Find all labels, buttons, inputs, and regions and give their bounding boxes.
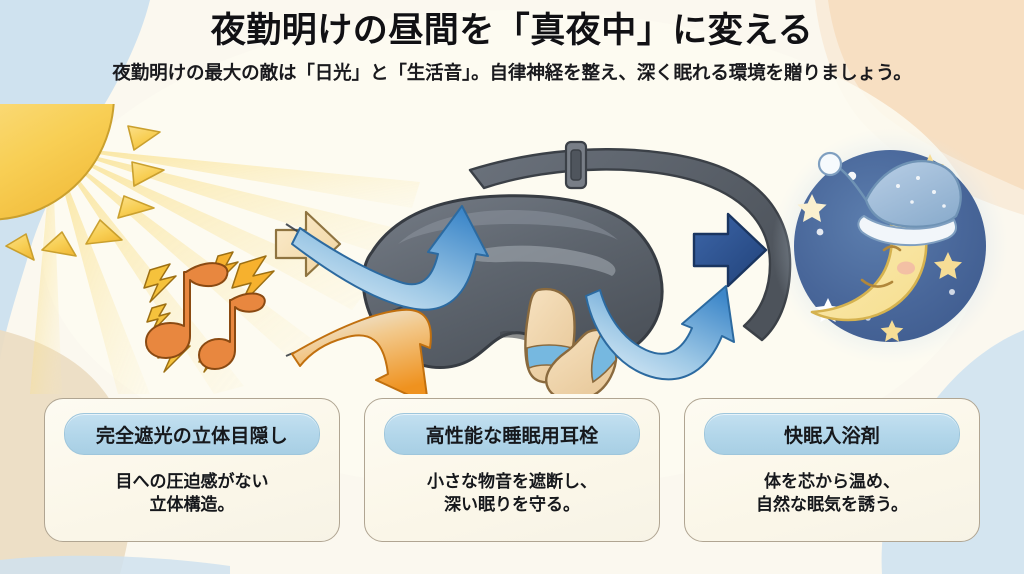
- music-note: [199, 293, 265, 369]
- navy-right-arrow-icon: [694, 214, 766, 286]
- sleeping-crescent-moon-icon: [772, 128, 1008, 364]
- card-description: 小さな物音を遮断し、 深い眠りを守る。: [427, 471, 597, 516]
- feature-card-list: 完全遮光の立体目隠し 目への圧迫感がない 立体構造。 高性能な睡眠用耳栓 小さな…: [44, 398, 980, 544]
- card-badge: 快眠入浴剤: [704, 413, 960, 455]
- infographic-canvas: 夜勤明けの昼間を「真夜中」に変える 夜勤明けの最大の敵は「日光」と「生活音」。自…: [0, 0, 1024, 574]
- feature-card-earplugs[interactable]: 高性能な睡眠用耳栓 小さな物音を遮断し、 深い眠りを守る。: [364, 398, 660, 542]
- card-description: 目への圧迫感がない 立体構造。: [116, 471, 269, 516]
- card-badge-label: 完全遮光の立体目隠し: [96, 421, 288, 448]
- card-badge: 高性能な睡眠用耳栓: [384, 413, 640, 455]
- card-description: 体を芯から温め、 自然な眠気を誘う。: [756, 471, 908, 516]
- card-badge-label: 高性能な睡眠用耳栓: [426, 421, 599, 448]
- nightcap-pompom: [819, 153, 841, 175]
- header: 夜勤明けの昼間を「真夜中」に変える 夜勤明けの最大の敵は「日光」と「生活音」。自…: [0, 0, 1024, 85]
- card-badge: 完全遮光の立体目隠し: [64, 413, 320, 455]
- strap-buckle: [566, 142, 586, 188]
- feature-card-sleep-mask[interactable]: 完全遮光の立体目隠し 目への圧迫感がない 立体構造。: [44, 398, 340, 542]
- card-badge-label: 快眠入浴剤: [784, 421, 880, 448]
- blob-bottom-strip-blue: [0, 556, 230, 574]
- page-title: 夜勤明けの昼間を「真夜中」に変える: [0, 11, 1024, 52]
- feature-card-bath-salts[interactable]: 快眠入浴剤 体を芯から温め、 自然な眠気を誘う。: [684, 398, 980, 542]
- illustration-band: [0, 104, 1024, 394]
- bounce-arrow-down: [292, 310, 431, 394]
- page-subtitle: 夜勤明けの最大の敵は「日光」と「生活音」。自律神経を整え、深く眠れる環境を贈りま…: [0, 62, 1024, 85]
